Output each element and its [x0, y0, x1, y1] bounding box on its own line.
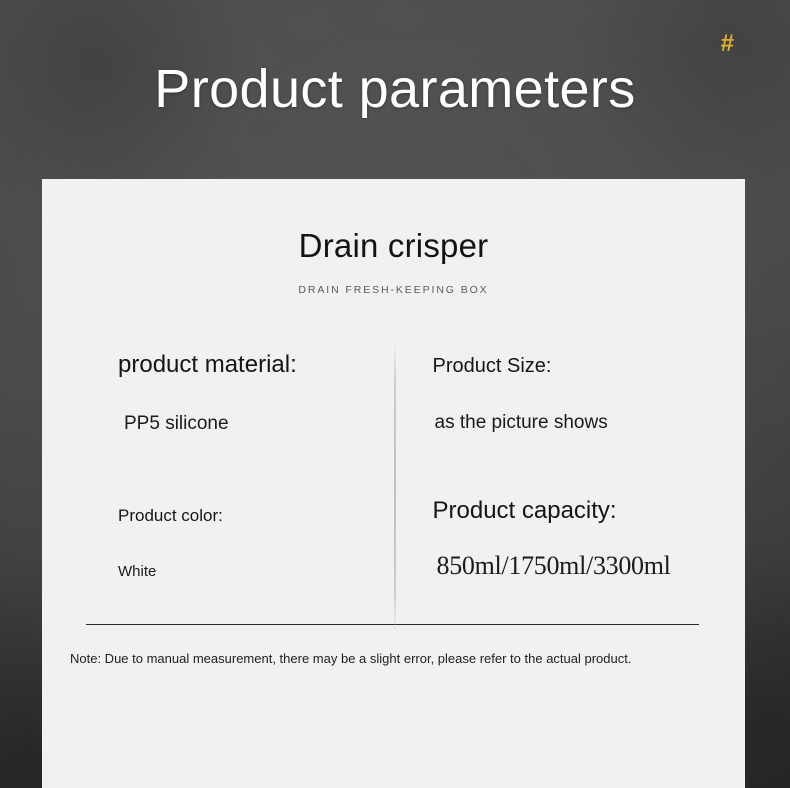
- spec-grid: product material: PP5 silicone Product S…: [42, 334, 745, 583]
- footer-divider: [86, 624, 699, 625]
- spec-value: 850ml/1750ml/3300ml: [437, 550, 716, 583]
- product-parameters-card: Drain crisper DRAIN FRESH-KEEPING BOX pr…: [42, 179, 745, 788]
- spec-label: product material:: [118, 350, 395, 380]
- note-text: Note: Due to manual measurement, there m…: [70, 650, 699, 668]
- card-header: Drain crisper DRAIN FRESH-KEEPING BOX: [42, 179, 745, 296]
- spec-value: White: [118, 563, 395, 582]
- column-divider: [394, 342, 396, 634]
- spec-label: Product capacity:: [433, 496, 716, 526]
- banner: Product parameters #: [0, 58, 790, 120]
- hash-icon: #: [721, 32, 734, 56]
- spec-item-product-size: Product Size: as the picture shows: [395, 334, 716, 436]
- product-subtitle: DRAIN FRESH-KEEPING BOX: [42, 284, 745, 296]
- spec-item-product-material: product material: PP5 silicone: [74, 334, 395, 436]
- spec-item-product-color: Product color: White: [74, 483, 395, 583]
- spec-label: Product Size:: [433, 354, 716, 379]
- page-title: Product parameters: [154, 58, 635, 120]
- spec-item-product-capacity: Product capacity: 850ml/1750ml/3300ml: [395, 483, 716, 583]
- product-name: Drain crisper: [42, 226, 745, 266]
- spec-label: Product color:: [118, 505, 395, 526]
- spec-value: as the picture shows: [435, 411, 716, 435]
- spec-value: PP5 silicone: [124, 412, 395, 436]
